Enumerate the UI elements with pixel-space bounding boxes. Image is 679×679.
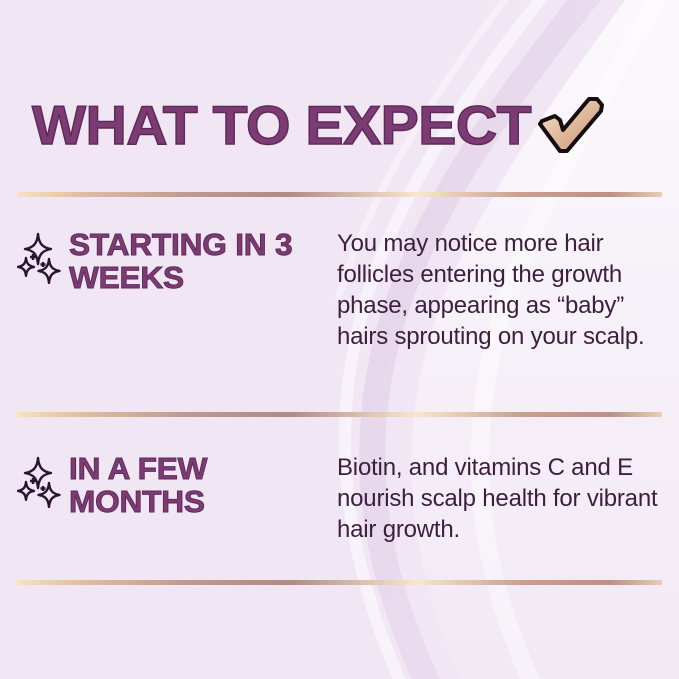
expect-section-starting-in-3-weeks: STARTING IN 3 WEEKS You may notice more … (17, 228, 662, 352)
header-row: WHAT TO EXPECT (32, 86, 656, 164)
sparkles-icon-wrap (17, 228, 69, 289)
divider-top (17, 192, 662, 197)
divider-bottom (17, 580, 662, 585)
section-body: You may notice more hair follicles enter… (331, 228, 662, 352)
section-heading: IN A FEW MONTHS (69, 452, 336, 518)
checkmark-icon (532, 94, 608, 156)
page-title: WHAT TO EXPECT (32, 97, 531, 153)
sparkles-icon-wrap (17, 452, 69, 513)
section-heading: STARTING IN 3 WEEKS (69, 228, 336, 294)
sparkles-icon (17, 232, 65, 284)
sparkles-icon (17, 456, 65, 508)
expect-section-in-a-few-months: IN A FEW MONTHS Biotin, and vitamins C a… (17, 452, 662, 545)
divider-middle (17, 412, 662, 417)
section-body: Biotin, and vitamins C and E nourish sca… (331, 452, 662, 545)
what-to-expect-infographic: WHAT TO EXPECT (0, 0, 679, 679)
